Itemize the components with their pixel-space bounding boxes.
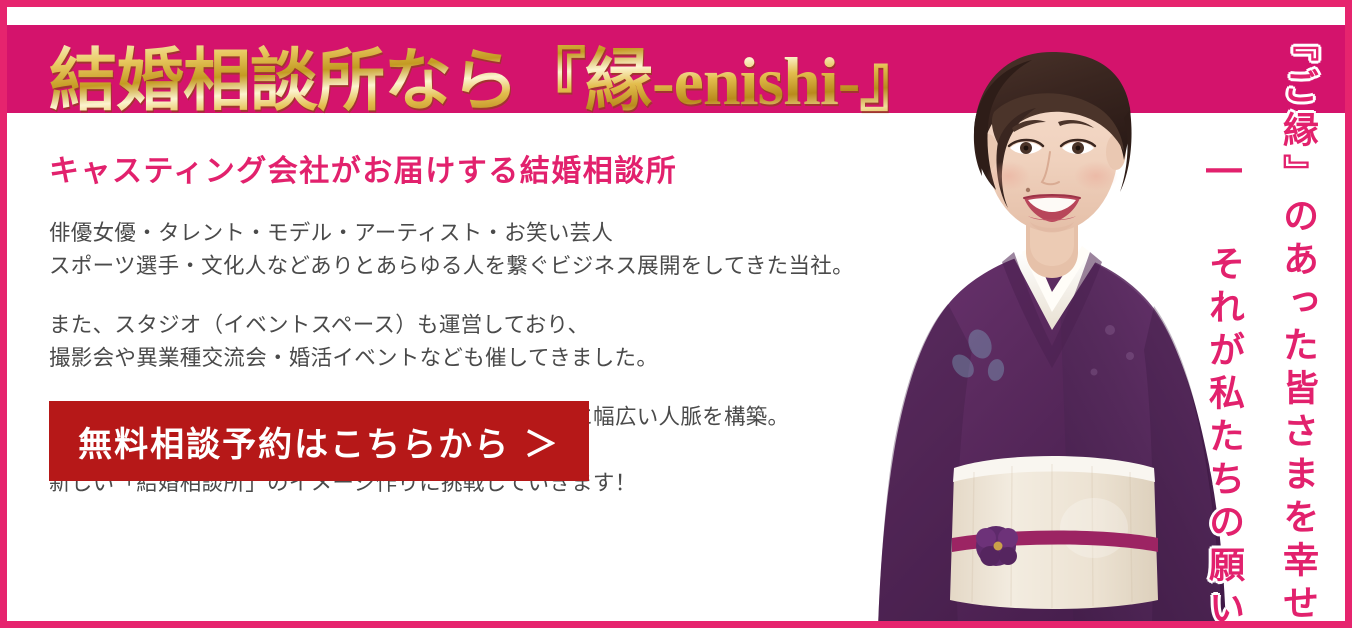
free-consultation-cta-button[interactable]: 無料相談予約はこちらから ＞ <box>49 401 589 481</box>
body-paragraph-1: 俳優女優・タレント・モデル・アーティスト・お笑い芸人スポーツ選手・文化人などあり… <box>49 217 967 283</box>
body-paragraph-2: また、スタジオ（イベントスペース）も運営しており、撮影会や異業種交流会・婚活イベ… <box>49 309 967 375</box>
page-title: 結婚相談所なら『縁-enishi-』 <box>49 45 926 117</box>
spokesperson-photo <box>862 0 1242 628</box>
subheading: キャスティング会社がお届けする結婚相談所 <box>49 146 967 190</box>
promo-banner: 結婚相談所なら『縁-enishi-』 <box>0 0 1352 628</box>
obidome-flower <box>976 526 1018 566</box>
